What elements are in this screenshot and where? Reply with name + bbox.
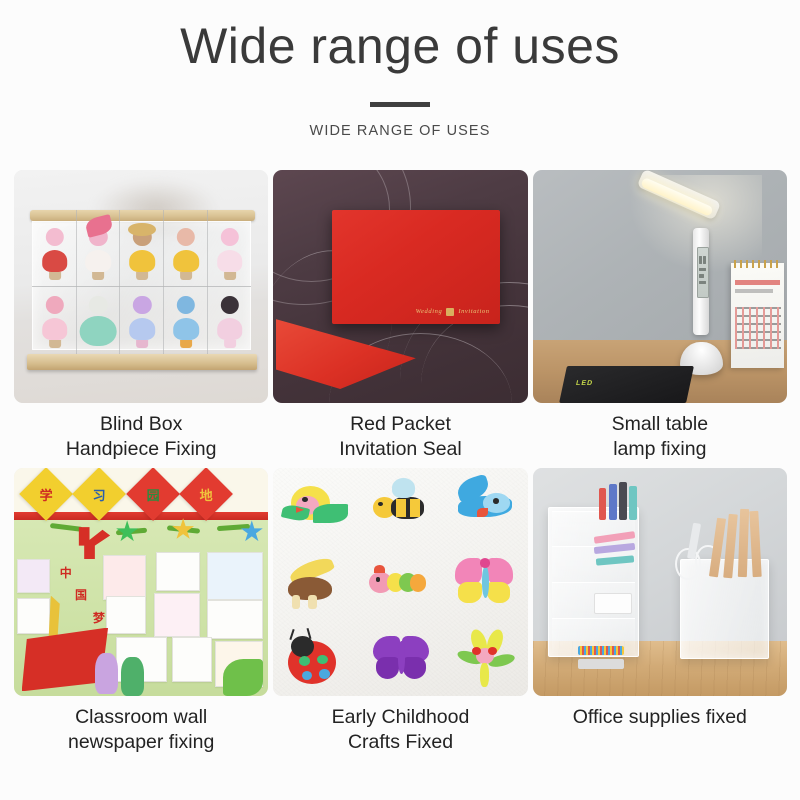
figurine <box>38 296 71 348</box>
caption-office-supplies: Office supplies fixed <box>533 696 787 736</box>
tiered-organizer <box>548 507 640 657</box>
gallery-item-office-supplies[interactable]: Office supplies fixed <box>533 468 787 761</box>
case-top-rail <box>30 210 255 222</box>
desk-calendar <box>731 263 784 368</box>
calendar-spiral-icon <box>734 260 781 268</box>
title-divider <box>370 102 430 107</box>
student-artwork <box>207 552 263 600</box>
student-artwork <box>17 559 50 593</box>
foil-emblem-icon <box>446 308 454 316</box>
student-artwork <box>103 555 146 601</box>
craft-pink-butterfly <box>451 552 520 614</box>
invitation-envelope: Wedding Invitation <box>332 210 500 324</box>
gold-foil-text: Wedding Invitation <box>416 308 490 316</box>
craft-snail <box>281 552 350 614</box>
blind-box-photo <box>14 170 268 403</box>
pen <box>609 484 617 520</box>
craft-ladybug <box>281 628 350 690</box>
gallery-item-crafts[interactable]: Early Childhood Crafts Fixed <box>273 468 527 761</box>
foil-wedding: Wedding <box>416 308 443 315</box>
pen <box>599 488 607 520</box>
figurine <box>213 296 246 348</box>
classroom-wall-photo: 学 习 园 地 中 国 梦 <box>14 468 268 696</box>
figurine <box>126 296 159 348</box>
caption-crafts: Early Childhood Crafts Fixed <box>273 696 527 761</box>
display-case <box>32 210 251 364</box>
office-supplies-photo <box>533 468 787 696</box>
notebook-logo: LED <box>575 380 593 387</box>
figurine <box>38 228 71 280</box>
page-title: Wide range of uses <box>0 18 800 76</box>
product-feature-page: Wide range of uses WIDE RANGE OF USES <box>0 0 800 800</box>
caption-red-packet: Red Packet Invitation Seal <box>273 403 527 468</box>
gallery-item-blind-box[interactable]: Blind Box Handpiece Fixing <box>14 170 268 468</box>
caption-blind-box: Blind Box Handpiece Fixing <box>14 403 268 468</box>
gallery-item-table-lamp[interactable]: LED Small table lamp fixing <box>533 170 787 468</box>
figurine <box>82 296 115 348</box>
student-artwork <box>17 598 50 634</box>
cartoon-figure <box>121 657 144 696</box>
craft-purple-butterfly <box>367 628 436 690</box>
craft-dragonfly <box>451 628 520 690</box>
craft-bee <box>367 475 436 537</box>
foil-invitation: Invitation <box>458 308 489 315</box>
page-subtitle: WIDE RANGE OF USES <box>0 123 800 139</box>
pen <box>619 482 627 521</box>
tape-roll <box>578 646 624 655</box>
lamp-lcd-display <box>697 247 710 298</box>
leaf-decor <box>223 659 264 695</box>
slogan-char: 国 <box>75 586 87 603</box>
cartoon-figure <box>95 653 118 694</box>
tape-roll <box>578 659 624 668</box>
student-artwork <box>172 637 213 683</box>
craft-yellow-bird <box>281 475 350 537</box>
table-lamp-photo: LED <box>533 170 787 403</box>
placard-char: 习 <box>93 484 106 503</box>
card-stack <box>594 593 632 614</box>
craft-caterpillar <box>367 552 436 614</box>
crafts-photo <box>273 468 527 696</box>
student-artwork <box>106 596 147 635</box>
figurine <box>126 228 159 280</box>
student-artwork <box>156 552 199 591</box>
caption-classroom-wall: Classroom wall newspaper fixing <box>14 696 268 761</box>
figurine <box>82 228 115 280</box>
student-artwork <box>207 600 263 639</box>
placard-char: 园 <box>146 484 159 503</box>
gallery-item-red-packet[interactable]: Wedding Invitation Red Packet Invitation… <box>273 170 527 468</box>
use-case-gallery: Blind Box Handpiece Fixing Wedding Invit… <box>14 170 787 761</box>
figurine <box>213 228 246 280</box>
craft-blue-parrot <box>451 475 520 537</box>
placard-char: 地 <box>200 484 213 503</box>
slogan-char: 中 <box>60 564 72 581</box>
case-base-rail <box>27 354 257 369</box>
figurine <box>170 296 203 348</box>
caption-table-lamp: Small table lamp fixing <box>533 403 787 468</box>
gallery-item-classroom-wall[interactable]: 学 习 园 地 中 国 梦 <box>14 468 268 761</box>
page-header: Wide range of uses WIDE RANGE OF USES <box>0 0 800 139</box>
slogan-char: 梦 <box>93 609 105 626</box>
placard-char: 学 <box>39 484 52 503</box>
pen <box>629 486 637 520</box>
student-artwork <box>154 593 200 636</box>
red-packet-photo: Wedding Invitation <box>273 170 527 403</box>
figurine <box>170 228 203 280</box>
